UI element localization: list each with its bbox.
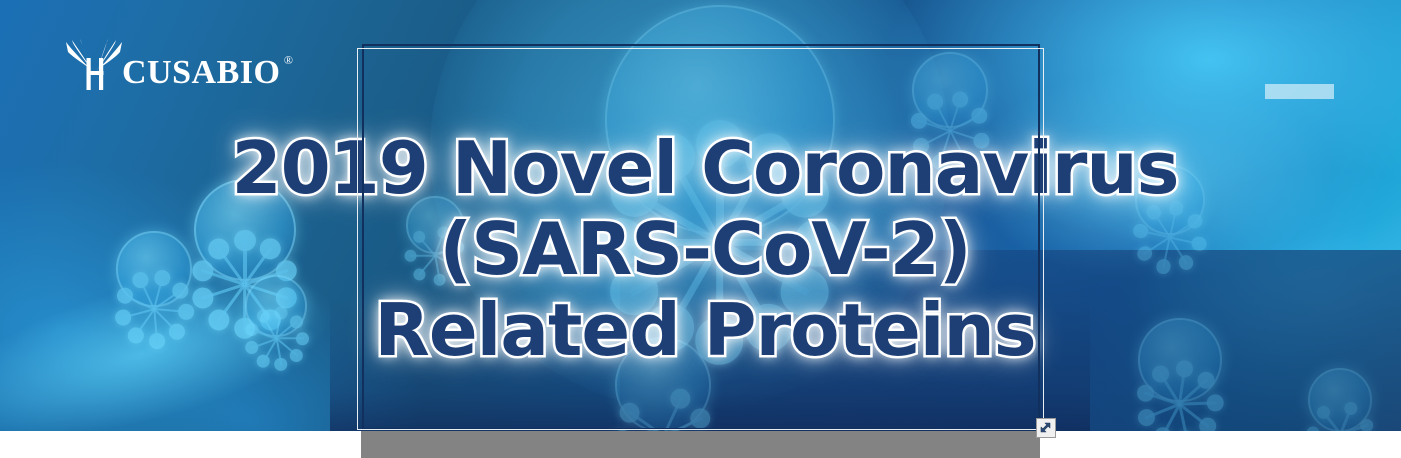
- light-placeholder-bar: [1265, 84, 1334, 99]
- cusabio-logo-word: CUSABIO: [122, 54, 280, 91]
- coronavirus-particle: [95, 210, 213, 328]
- cusabio-logo-text: CUSABIO®: [122, 56, 280, 90]
- cusabio-wings-h-mark: [62, 36, 128, 94]
- page-root: CUSABIO® 2019 Novel Coronavirus (SARS-Co…: [0, 0, 1401, 458]
- cusabio-logo[interactable]: CUSABIO®: [62, 36, 280, 94]
- grey-placeholder-bar: [361, 431, 1040, 458]
- resize-arrow-icon: [1037, 419, 1055, 437]
- resize-handle-icon[interactable]: [1036, 418, 1056, 438]
- registered-trademark-icon: ®: [284, 54, 294, 66]
- image-selection-frame[interactable]: [357, 48, 1044, 430]
